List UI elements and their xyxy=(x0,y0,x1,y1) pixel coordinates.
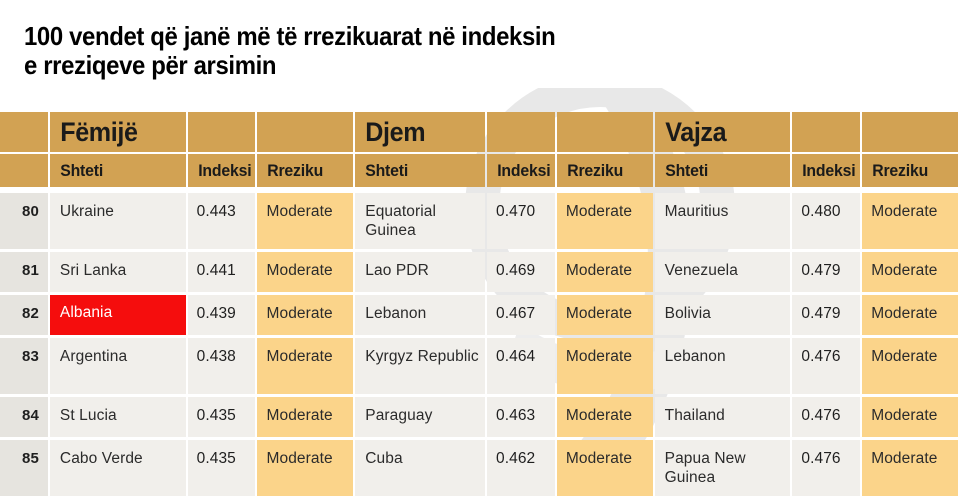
boys-country: Lao PDR xyxy=(355,252,485,292)
group-header-girls-label: Vajza xyxy=(655,117,726,148)
children-country: Cabo Verde xyxy=(50,440,186,496)
table-column-header-row: Shteti Indeksi Rreziku Shteti Indeksi Rr… xyxy=(0,154,958,187)
group-header-boys-index-blank xyxy=(487,112,555,152)
girls-risk: Moderate xyxy=(862,397,958,437)
column-header-children-country-label: Shteti xyxy=(50,161,103,181)
children-index: 0.438 xyxy=(188,338,256,394)
column-header-girls-country: Shteti xyxy=(655,154,791,187)
girls-country: Papua New Guinea xyxy=(655,440,791,496)
group-header-boys-risk-blank xyxy=(557,112,653,152)
boys-country: Paraguay xyxy=(355,397,485,437)
boys-risk: Moderate xyxy=(557,397,653,437)
children-country: Argentina xyxy=(50,338,186,394)
children-index: 0.435 xyxy=(188,397,256,437)
boys-index: 0.467 xyxy=(487,295,555,335)
girls-index: 0.479 xyxy=(792,252,860,292)
boys-index: 0.469 xyxy=(487,252,555,292)
group-header-children-index-blank xyxy=(188,112,256,152)
page-title: 100 vendet që janë më të rrezikuarat në … xyxy=(24,22,852,80)
page-title-line-1: 100 vendet që janë më të rrezikuarat në … xyxy=(24,22,852,51)
row-rank: 81 xyxy=(0,252,48,292)
children-index: 0.439 xyxy=(188,295,256,335)
girls-index: 0.479 xyxy=(792,295,860,335)
children-risk: Moderate xyxy=(257,338,353,394)
girls-country: Thailand xyxy=(655,397,791,437)
girls-index: 0.476 xyxy=(792,338,860,394)
children-risk: Moderate xyxy=(257,440,353,496)
column-header-boys-risk: Rreziku xyxy=(557,154,653,187)
children-country: Ukraine xyxy=(50,193,186,249)
table-row: 84St Lucia0.435ModerateParaguay0.463Mode… xyxy=(0,397,958,437)
table-row: 83Argentina0.438ModerateKyrgyz Republic0… xyxy=(0,338,958,394)
boys-index: 0.464 xyxy=(487,338,555,394)
girls-risk: Moderate xyxy=(862,252,958,292)
group-header-children-label: Fëmijë xyxy=(50,117,138,148)
children-risk: Moderate xyxy=(257,295,353,335)
boys-risk: Moderate xyxy=(557,295,653,335)
children-risk: Moderate xyxy=(257,252,353,292)
boys-risk: Moderate xyxy=(557,338,653,394)
boys-risk: Moderate xyxy=(557,440,653,496)
children-country: Albania xyxy=(50,295,186,335)
boys-country: Kyrgyz Republic xyxy=(355,338,485,394)
group-header-girls-index-blank xyxy=(792,112,860,152)
girls-index: 0.476 xyxy=(792,397,860,437)
group-header-children: Fëmijë xyxy=(50,112,186,152)
children-risk: Moderate xyxy=(257,397,353,437)
group-header-girls: Vajza xyxy=(655,112,791,152)
risk-index-table: Fëmijë Djem Vajza Shteti Indeksi Rreziku… xyxy=(0,112,958,499)
column-header-boys-index: Indeksi xyxy=(487,154,555,187)
children-index: 0.435 xyxy=(188,440,256,496)
boys-risk: Moderate xyxy=(557,193,653,249)
column-header-girls-risk-label: Rreziku xyxy=(862,161,928,181)
boys-country: Equatorial Guinea xyxy=(355,193,485,249)
girls-risk: Moderate xyxy=(862,338,958,394)
girls-index: 0.476 xyxy=(792,440,860,496)
table-row: 85Cabo Verde0.435ModerateCuba0.462Modera… xyxy=(0,440,958,496)
column-header-girls-country-label: Shteti xyxy=(655,161,708,181)
row-rank: 83 xyxy=(0,338,48,394)
column-header-boys-country: Shteti xyxy=(355,154,485,187)
girls-country: Bolivia xyxy=(655,295,791,335)
column-header-children-index: Indeksi xyxy=(188,154,256,187)
boys-index: 0.470 xyxy=(487,193,555,249)
group-header-boys: Djem xyxy=(355,112,485,152)
row-rank: 80 xyxy=(0,193,48,249)
column-header-children-index-label: Indeksi xyxy=(188,161,251,181)
girls-risk: Moderate xyxy=(862,295,958,335)
column-header-children-risk-label: Rreziku xyxy=(257,161,323,181)
girls-country: Lebanon xyxy=(655,338,791,394)
column-header-boys-country-label: Shteti xyxy=(355,161,408,181)
group-header-boys-label: Djem xyxy=(355,117,425,148)
page-title-line-2: e rreziqeve për arsimin xyxy=(24,51,852,80)
children-country: Sri Lanka xyxy=(50,252,186,292)
column-header-children-country: Shteti xyxy=(50,154,186,187)
table-body: 80Ukraine0.443ModerateEquatorial Guinea0… xyxy=(0,193,958,496)
boys-index: 0.462 xyxy=(487,440,555,496)
girls-risk: Moderate xyxy=(862,193,958,249)
group-header-girls-risk-blank xyxy=(862,112,958,152)
column-header-girls-risk: Rreziku xyxy=(862,154,958,187)
table-group-header-row: Fëmijë Djem Vajza xyxy=(0,112,958,152)
row-rank: 85 xyxy=(0,440,48,496)
boys-country: Lebanon xyxy=(355,295,485,335)
girls-country: Venezuela xyxy=(655,252,791,292)
girls-index: 0.480 xyxy=(792,193,860,249)
group-header-children-risk-blank xyxy=(257,112,353,152)
boys-risk: Moderate xyxy=(557,252,653,292)
column-header-children-risk: Rreziku xyxy=(257,154,353,187)
children-country: St Lucia xyxy=(50,397,186,437)
table-row: 81Sri Lanka0.441ModerateLao PDR0.469Mode… xyxy=(0,252,958,292)
column-header-girls-index: Indeksi xyxy=(792,154,860,187)
column-header-boys-risk-label: Rreziku xyxy=(557,161,623,181)
children-risk: Moderate xyxy=(257,193,353,249)
column-header-rank xyxy=(0,154,48,187)
column-header-girls-index-label: Indeksi xyxy=(792,161,855,181)
boys-index: 0.463 xyxy=(487,397,555,437)
table-row: 82Albania0.439ModerateLebanon0.467Modera… xyxy=(0,295,958,335)
row-rank: 82 xyxy=(0,295,48,335)
column-header-boys-index-label: Indeksi xyxy=(487,161,550,181)
table-row: 80Ukraine0.443ModerateEquatorial Guinea0… xyxy=(0,193,958,249)
girls-risk: Moderate xyxy=(862,440,958,496)
girls-country: Mauritius xyxy=(655,193,791,249)
boys-country: Cuba xyxy=(355,440,485,496)
children-index: 0.443 xyxy=(188,193,256,249)
group-header-rank-blank xyxy=(0,112,48,152)
row-rank: 84 xyxy=(0,397,48,437)
children-index: 0.441 xyxy=(188,252,256,292)
